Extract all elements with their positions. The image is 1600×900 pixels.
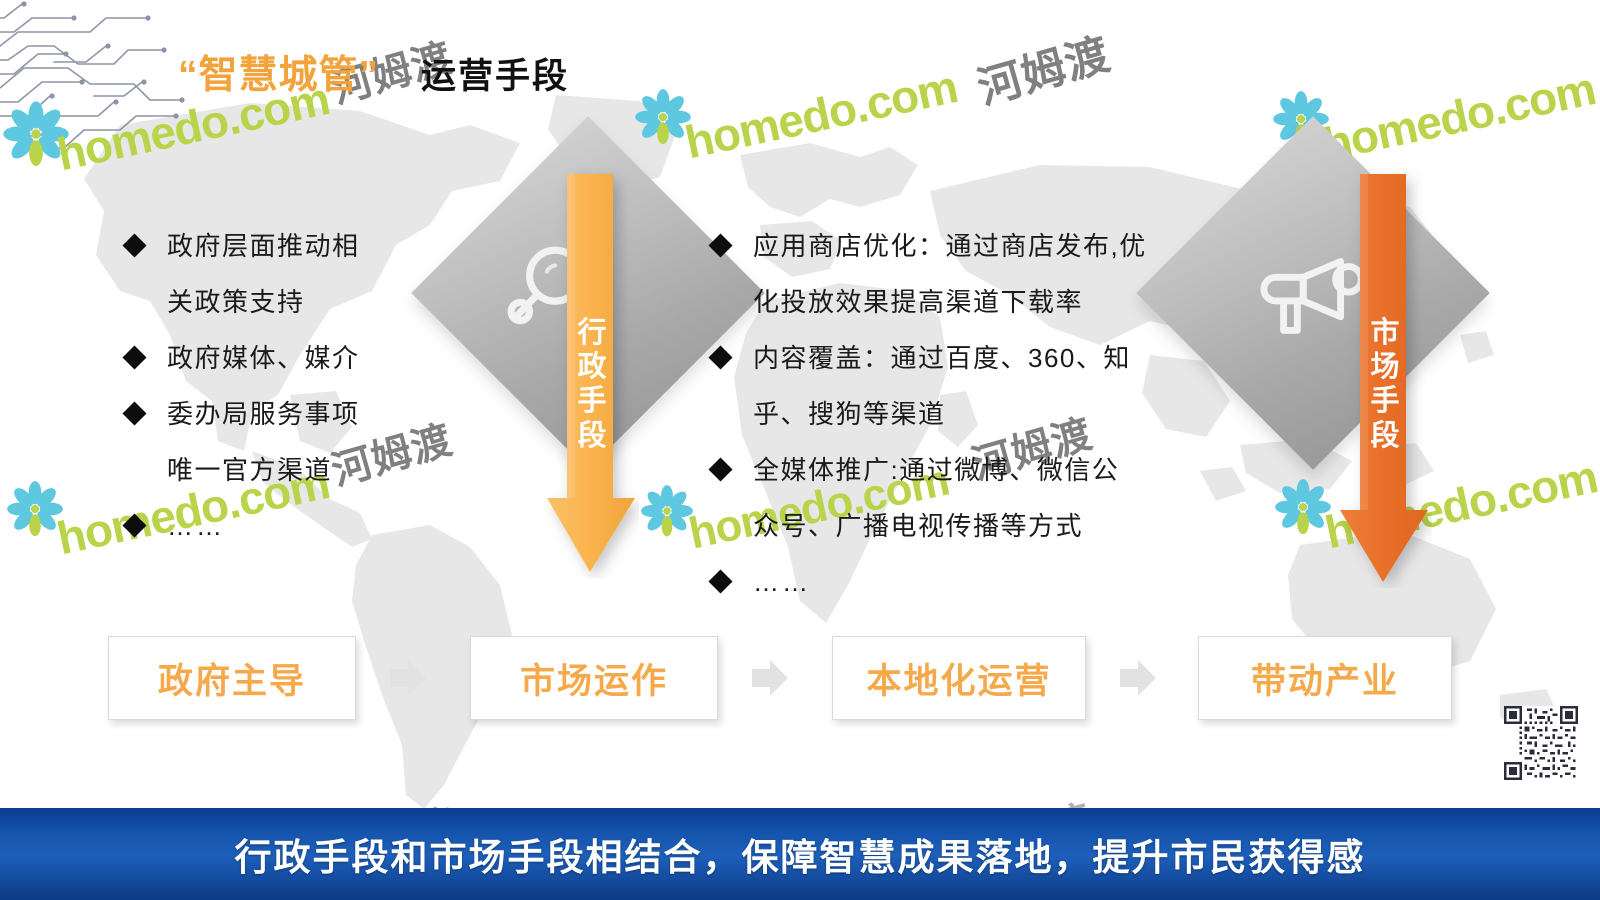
list-item: 政府媒体、媒介 [126, 330, 456, 386]
homedo-flower-logo [6, 480, 64, 538]
watermark-homedo: homedo.com [680, 59, 961, 169]
list-item-text: …… [167, 498, 456, 554]
chevron-right-icon [386, 656, 430, 700]
list-item-text: 化投放效果提高渠道下载率 [753, 274, 1212, 330]
list-item: 众号、广播电视传播等方式 [712, 498, 1212, 554]
process-step-3-label: 本地化运营 [866, 653, 1051, 704]
right-bullet-list: 应用商店优化：通过商店发布,优 化投放效果提高渠道下载率 内容覆盖：通过百度、3… [712, 218, 1212, 610]
process-step-4-label: 带动产业 [1251, 653, 1399, 704]
process-step-1-label: 政府主导 [158, 653, 306, 704]
list-item: 委办局服务事项 [126, 386, 456, 442]
process-step-2-label: 市场运作 [520, 653, 668, 704]
watermark-homedo-text: homedo.com [681, 60, 962, 168]
homedo-flower-logo [634, 88, 692, 146]
list-item: 乎、搜狗等渠道 [712, 386, 1212, 442]
chevron-right-icon [748, 656, 792, 700]
process-step-1[interactable]: 政府主导 [108, 636, 356, 720]
list-item: 应用商店优化：通过商店发布,优 [712, 218, 1212, 274]
list-item-text: 委办局服务事项 [167, 386, 456, 442]
list-item-text: 唯一官方渠道 [167, 442, 456, 498]
right-vertical-arrow [1338, 168, 1432, 588]
watermark-hemudu-text: 河姆渡 [972, 30, 1115, 114]
bullet-diamond-icon [708, 233, 732, 257]
list-item-text: …… [753, 554, 1212, 610]
slide-title: “智慧城管” 运营手段 [178, 44, 569, 100]
list-item: 关政策支持 [126, 274, 456, 330]
list-item-text: 全媒体推广:通过微博、微信公 [753, 442, 1212, 498]
process-step-2[interactable]: 市场运作 [470, 636, 718, 720]
bullet-diamond-icon [122, 233, 146, 257]
list-item-text: 政府媒体、媒介 [167, 330, 456, 386]
watermark-homedo: homedo.com [1318, 61, 1599, 171]
process-chain: 政府主导 市场运作 本地化运营 带动产业 [0, 636, 1600, 726]
list-item: 政府层面推动相 [126, 218, 456, 274]
list-item: 内容覆盖：通过百度、360、知 [712, 330, 1212, 386]
list-item: 唯一官方渠道 [126, 442, 456, 498]
bullet-diamond-icon [708, 345, 732, 369]
list-item-text: 乎、搜狗等渠道 [753, 386, 1212, 442]
list-item-text: 众号、广播电视传播等方式 [753, 498, 1212, 554]
left-bullet-list: 政府层面推动相 关政策支持 政府媒体、媒介 委办局服务事项 唯一官方渠道 …… [126, 218, 456, 554]
list-item-text: 应用商店优化：通过商店发布,优 [753, 218, 1212, 274]
process-step-4[interactable]: 带动产业 [1198, 636, 1452, 720]
chevron-right-icon [1116, 656, 1160, 700]
list-item: …… [126, 498, 456, 554]
watermark-hemudu: 河姆渡 [969, 18, 1116, 117]
list-item: 化投放效果提高渠道下载率 [712, 274, 1212, 330]
list-item: …… [712, 554, 1212, 610]
bullet-diamond-icon [708, 569, 732, 593]
title-quoted-part: “智慧城管” [178, 44, 379, 100]
list-item-text: 政府层面推动相 [167, 218, 456, 274]
list-item: 全媒体推广:通过微博、微信公 [712, 442, 1212, 498]
bullet-diamond-icon [708, 457, 732, 481]
title-rest-part: 运营手段 [421, 48, 569, 99]
homedo-flower-logo [2, 100, 70, 168]
watermark-homedo-text: homedo.com [1319, 62, 1600, 170]
homedo-flower-logo [640, 484, 694, 538]
bottom-banner-text: 行政手段和市场手段相结合，保障智慧成果落地，提升市民获得感 [235, 827, 1366, 881]
bullet-diamond-icon [122, 401, 146, 425]
left-vertical-arrow [545, 168, 639, 578]
slide-canvas: homedo.com homedo.com homedo.com homedo.… [0, 0, 1600, 900]
list-item-text: 内容覆盖：通过百度、360、知 [753, 330, 1212, 386]
bottom-banner: 行政手段和市场手段相结合，保障智慧成果落地，提升市民获得感 [0, 808, 1600, 900]
bullet-diamond-icon [122, 513, 146, 537]
bullet-diamond-icon [122, 345, 146, 369]
list-item-text: 关政策支持 [167, 274, 456, 330]
qr-code[interactable] [1504, 706, 1578, 780]
homedo-flower-logo [1274, 478, 1332, 536]
process-step-3[interactable]: 本地化运营 [832, 636, 1086, 720]
